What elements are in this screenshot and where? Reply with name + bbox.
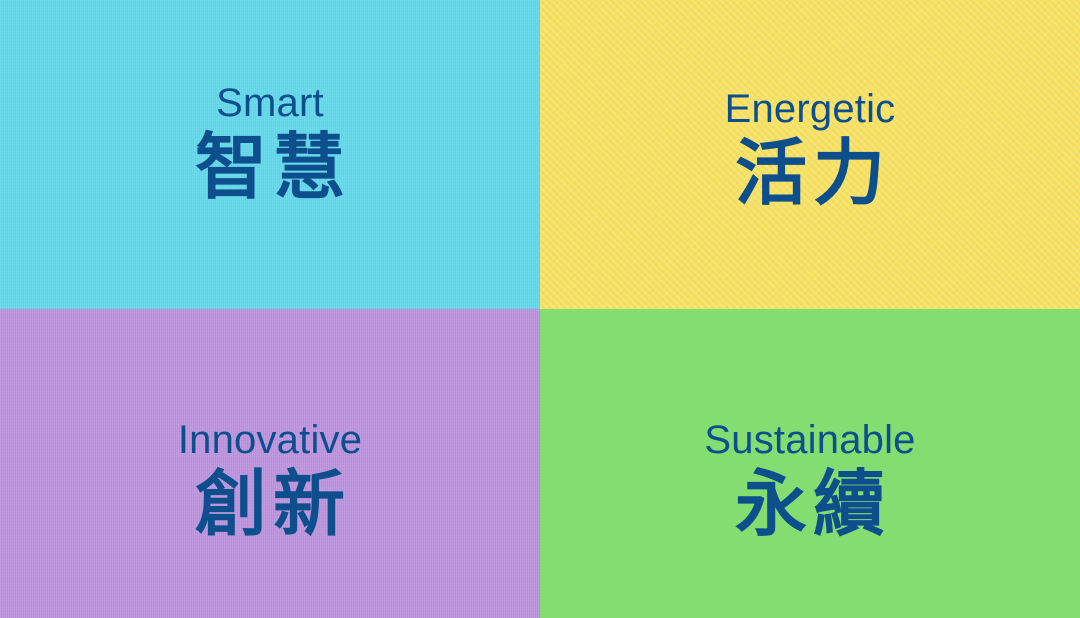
value-label-cjk-innovative: 創新 — [189, 468, 351, 540]
value-text-stack: Innovative 創新 — [178, 420, 362, 540]
value-label-en-energetic: Energetic — [725, 89, 896, 129]
value-label-en-innovative: Innovative — [178, 420, 362, 460]
value-text-stack: Sustainable 永續 — [704, 420, 915, 540]
value-panel-grid: Smart 智慧 Energetic 活力 Innovative 創新 Sust… — [0, 0, 1080, 618]
value-text-stack: Energetic 活力 — [725, 89, 896, 209]
value-label-en-sustainable: Sustainable — [704, 420, 915, 460]
value-label-cjk-energetic: 活力 — [729, 137, 891, 209]
value-label-cjk-sustainable: 永續 — [729, 468, 891, 540]
value-panel-innovative: Innovative 創新 — [0, 309, 540, 618]
value-panel-energetic: Energetic 活力 — [540, 0, 1080, 309]
value-panel-smart: Smart 智慧 — [0, 0, 540, 309]
value-text-stack: Smart 智慧 — [189, 83, 351, 203]
value-panel-sustainable: Sustainable 永續 — [540, 309, 1080, 618]
value-label-cjk-smart: 智慧 — [189, 131, 351, 203]
value-label-en-smart: Smart — [216, 83, 324, 123]
brand-values-board: Smart 智慧 Energetic 活力 Innovative 創新 Sust… — [0, 0, 1080, 618]
